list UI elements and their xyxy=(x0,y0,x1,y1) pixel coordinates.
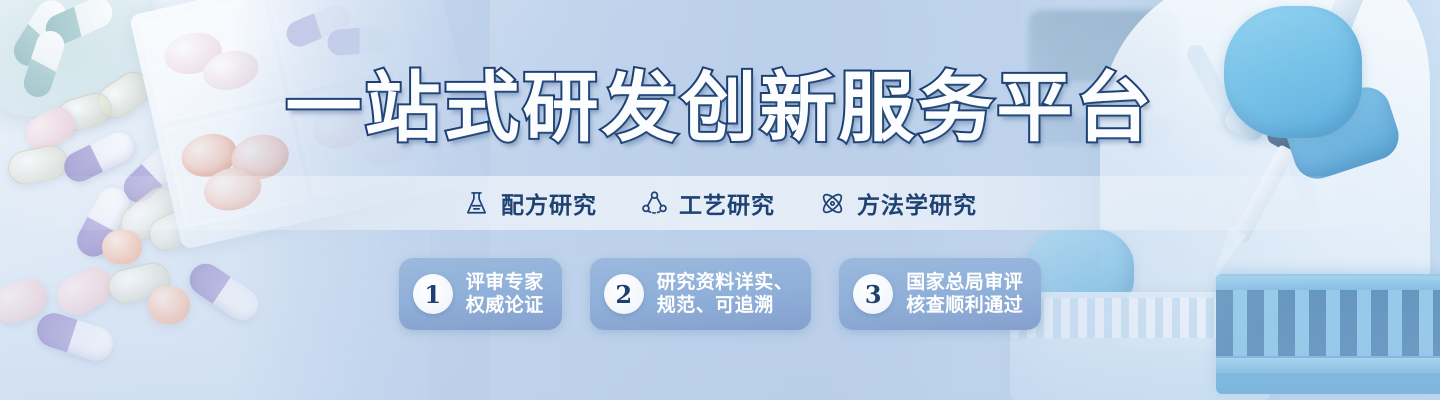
service-item-process[interactable]: 工艺研究 xyxy=(641,186,775,220)
feature-line-2: 规范、可追溯 xyxy=(657,294,794,317)
service-label: 工艺研究 xyxy=(679,186,775,220)
feature-number-badge: 2 xyxy=(604,274,644,314)
feature-line-1: 国家总局审评 xyxy=(906,271,1023,294)
promo-banner: 一站式研发创新服务平台 配方研究 xyxy=(0,0,1440,400)
service-label: 方法学研究 xyxy=(857,186,977,220)
atom-icon xyxy=(819,190,846,217)
feature-card[interactable]: 3 国家总局审评 核查顺利通过 xyxy=(839,258,1041,330)
flask-icon xyxy=(463,190,490,217)
molecule-icon xyxy=(641,190,668,217)
banner-title: 一站式研发创新服务平台 xyxy=(0,62,1440,154)
feature-text: 评审专家 权威论证 xyxy=(466,271,544,317)
service-item-methodology[interactable]: 方法学研究 xyxy=(819,186,977,220)
service-list: 配方研究 工艺研究 xyxy=(0,176,1440,230)
feature-text: 国家总局审评 核查顺利通过 xyxy=(906,271,1023,317)
feature-line-2: 权威论证 xyxy=(466,294,544,317)
service-item-formulation[interactable]: 配方研究 xyxy=(463,186,597,220)
feature-card[interactable]: 1 评审专家 权威论证 xyxy=(399,258,562,330)
feature-line-2: 核查顺利通过 xyxy=(906,294,1023,317)
feature-card[interactable]: 2 研究资料详实、 规范、可追溯 xyxy=(590,258,812,330)
banner-content: 一站式研发创新服务平台 配方研究 xyxy=(0,0,1440,400)
feature-number-badge: 1 xyxy=(413,274,453,314)
feature-line-1: 评审专家 xyxy=(466,271,544,294)
feature-card-list: 1 评审专家 权威论证 2 研究资料详实、 规范、可追溯 3 国家总局审评 核查… xyxy=(0,258,1440,330)
feature-line-1: 研究资料详实、 xyxy=(657,271,794,294)
feature-text: 研究资料详实、 规范、可追溯 xyxy=(657,271,794,317)
feature-number-badge: 3 xyxy=(853,274,893,314)
service-label: 配方研究 xyxy=(501,186,597,220)
